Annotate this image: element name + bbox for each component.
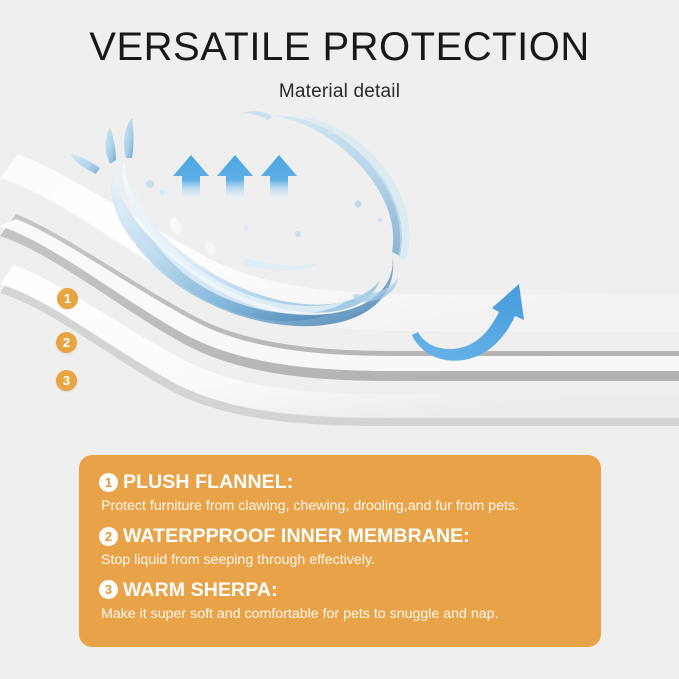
feature-1-number-badge: 1 — [99, 473, 118, 492]
feature-3-description: Make it super soft and comfortable for p… — [101, 605, 581, 623]
material-layer-diagram: 1 2 3 — [0, 108, 679, 438]
feature-item-1: 1 PLUSH FLANNEL: Protect furniture from … — [99, 471, 581, 516]
feature-panel: 1 PLUSH FLANNEL: Protect furniture from … — [79, 455, 601, 647]
feature-2-heading: 2 WATERPPROOF INNER MEMBRANE: — [99, 525, 581, 547]
page-subtitle: Material detail — [0, 81, 679, 103]
feature-3-number-badge: 3 — [99, 580, 118, 599]
feature-item-2: 2 WATERPPROOF INNER MEMBRANE: Stop liqui… — [99, 525, 581, 570]
feature-3-title: WARM SHERPA: — [123, 579, 278, 601]
feature-1-description: Protect furniture from clawing, chewing,… — [101, 497, 581, 515]
feature-2-description: Stop liquid from seeping through effecti… — [101, 551, 581, 569]
infographic-page: VERSATILE PROTECTION Material detail — [0, 0, 679, 679]
feature-1-heading: 1 PLUSH FLANNEL: — [99, 471, 581, 493]
feature-1-title: PLUSH FLANNEL: — [123, 471, 293, 493]
layer-marker-3: 3 — [56, 370, 77, 391]
repel-up-arrow-icon — [173, 155, 297, 200]
feature-2-number-badge: 2 — [99, 527, 118, 546]
page-title: VERSATILE PROTECTION — [0, 26, 679, 68]
header: VERSATILE PROTECTION Material detail — [0, 0, 679, 103]
layer-marker-2: 2 — [56, 332, 77, 353]
feature-item-3: 3 WARM SHERPA: Make it super soft and co… — [99, 579, 581, 624]
feature-2-title: WATERPPROOF INNER MEMBRANE: — [123, 525, 470, 547]
feature-3-heading: 3 WARM SHERPA: — [99, 579, 581, 601]
layer-marker-1: 1 — [57, 288, 78, 309]
